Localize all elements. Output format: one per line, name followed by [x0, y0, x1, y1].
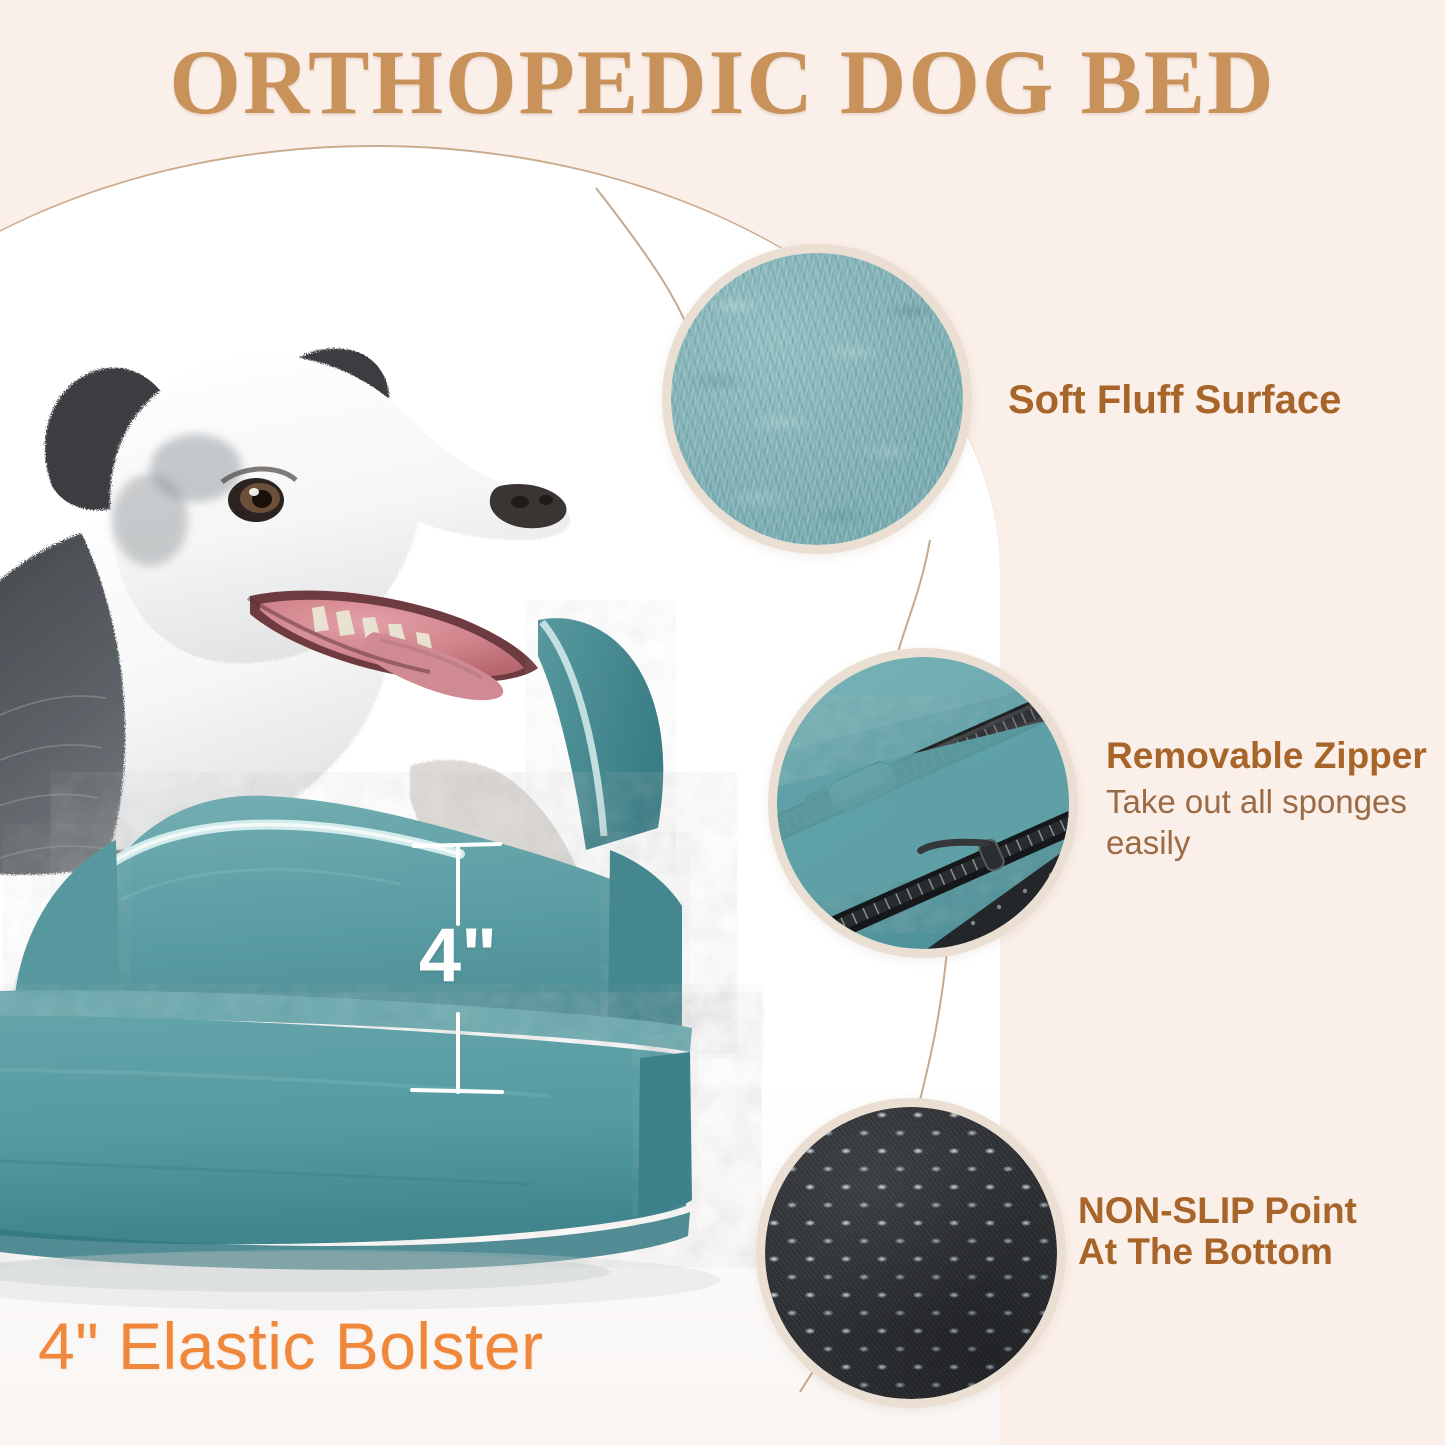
bolster-height-label: 4" [398, 918, 518, 994]
fluff-swatch-icon [662, 244, 972, 554]
feature-label-nonslip: NON-SLIP Point At The Bottom [1078, 1190, 1418, 1273]
feature-sub-zipper: Take out all sponges easily [1106, 782, 1445, 863]
nonslip-swatch-icon [756, 1098, 1066, 1408]
bolster-caption: 4" Elastic Bolster [38, 1308, 544, 1384]
page-title: ORTHOPEDIC DOG BED [0, 36, 1445, 128]
feature-heading-fluff: Soft Fluff Surface [1008, 378, 1428, 423]
feature-heading-zipper: Removable Zipper [1106, 735, 1445, 776]
feature-label-fluff: Soft Fluff Surface [1008, 378, 1428, 423]
feature-label-zipper: Removable Zipper Take out all sponges ea… [1106, 735, 1445, 863]
zipper-swatch-icon [768, 648, 1078, 958]
infographic-canvas: ORTHOPEDIC DOG BED [0, 0, 1445, 1445]
feature-heading-nonslip: NON-SLIP Point At The Bottom [1078, 1190, 1418, 1273]
